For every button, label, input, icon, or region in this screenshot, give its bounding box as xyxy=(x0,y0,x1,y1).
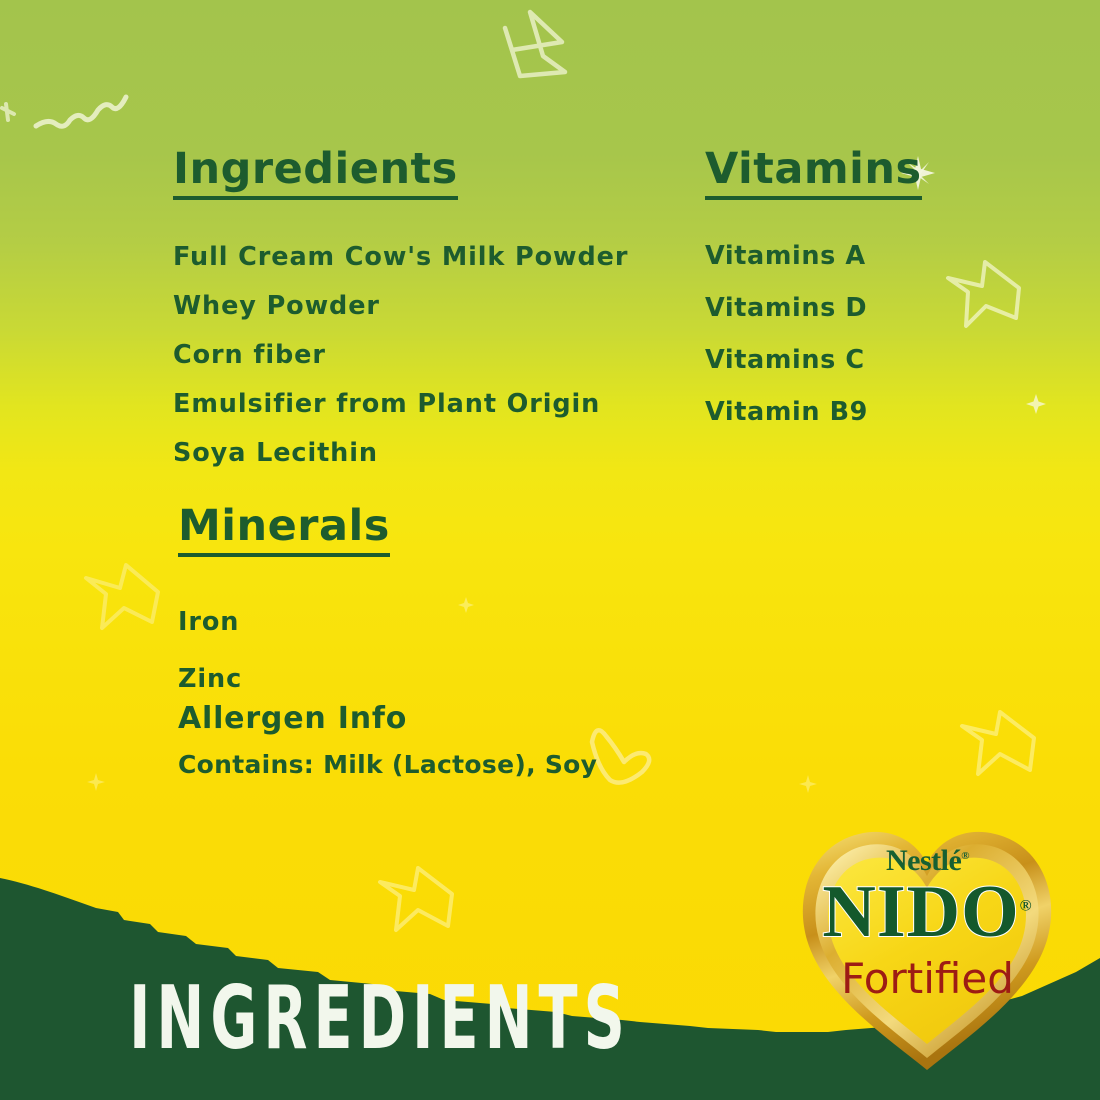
list-item: Soya Lecithin xyxy=(173,429,653,478)
list-item: Vitamins C xyxy=(705,334,1005,386)
list-item: Whey Powder xyxy=(173,282,653,331)
nido-logo: Nestlé® NIDO® Fortified xyxy=(795,818,1060,1080)
list-item: Iron xyxy=(178,594,658,651)
nido-heart-shape xyxy=(795,818,1060,1080)
minerals-list: Iron Zinc xyxy=(178,594,658,708)
allergen-text: Contains: Milk (Lactose), Soy xyxy=(178,750,658,779)
minerals-section: Minerals Iron Zinc xyxy=(178,505,658,708)
list-item: Corn fiber xyxy=(173,331,653,380)
allergen-section: Allergen Info Contains: Milk (Lactose), … xyxy=(178,704,658,779)
ingredients-poster: Ingredients Full Cream Cow's Milk Powder… xyxy=(0,0,1100,1100)
poster-content: Ingredients Full Cream Cow's Milk Powder… xyxy=(0,0,1100,1100)
vitamins-section: Vitamins Vitamins A Vitamins D Vitamins … xyxy=(705,148,1005,438)
banner-title: INGREDIENTS xyxy=(53,975,707,1062)
list-item: Vitamins D xyxy=(705,282,1005,334)
list-item: Zinc xyxy=(178,651,658,708)
vitamins-heading: Vitamins xyxy=(705,148,922,200)
list-item: Vitamins A xyxy=(705,230,1005,282)
list-item: Emulsifier from Plant Origin xyxy=(173,380,653,429)
ingredients-heading: Ingredients xyxy=(173,148,458,200)
minerals-heading: Minerals xyxy=(178,505,390,557)
ingredients-list: Full Cream Cow's Milk Powder Whey Powder… xyxy=(173,233,653,478)
list-item: Full Cream Cow's Milk Powder xyxy=(173,233,653,282)
list-item: Vitamin B9 xyxy=(705,386,1005,438)
allergen-title: Allergen Info xyxy=(178,704,658,734)
vitamins-list: Vitamins A Vitamins D Vitamins C Vitamin… xyxy=(705,230,1005,438)
ingredients-section: Ingredients Full Cream Cow's Milk Powder… xyxy=(173,148,653,478)
